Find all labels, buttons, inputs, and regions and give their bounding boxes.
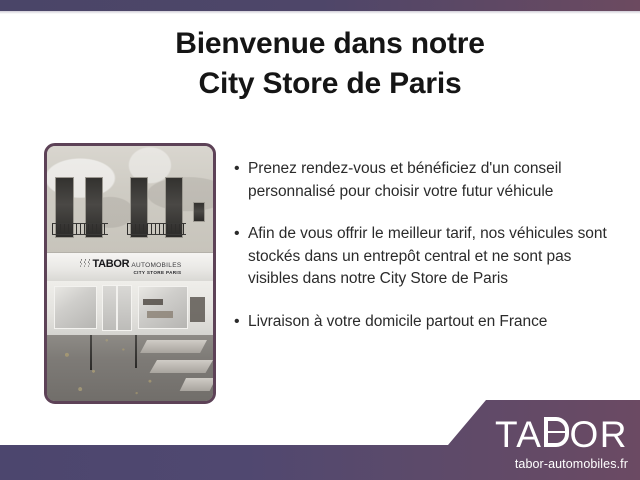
bullet-text: Livraison à votre domicile partout en Fr… — [248, 311, 547, 334]
bullet-text: Afin de vous offrir le meilleur tarif, n… — [248, 223, 626, 291]
logo-url: tabor-automobiles.fr — [495, 458, 628, 471]
sign-text-group: AUTOMOBILES CITY STORE PARIS — [131, 263, 181, 276]
curb-stone — [149, 360, 213, 373]
balcony-railing — [127, 223, 187, 235]
sign-location: CITY STORE PARIS — [131, 271, 181, 276]
tabor-wordmark: TA OR — [495, 417, 628, 453]
list-item: • Prenez rendez-vous et bénéficiez d'un … — [234, 158, 626, 203]
tabor-mark-icon — [79, 259, 91, 267]
bullet-marker: • — [234, 311, 248, 333]
logo-b-glyph — [544, 417, 569, 447]
shop-window-right — [138, 286, 188, 329]
list-item: • Afin de vous offrir le meilleur tarif,… — [234, 223, 626, 291]
bullet-marker: • — [234, 223, 248, 245]
title-line-2: City Store de Paris — [120, 64, 540, 104]
interior-counter — [147, 311, 174, 318]
tabor-logo: TA OR tabor-automobiles.fr — [495, 417, 628, 470]
curb-stone — [140, 340, 207, 353]
facade-window-small — [193, 202, 205, 222]
bullet-marker: • — [234, 158, 248, 180]
logo-text-part-1: TA — [495, 417, 543, 453]
bullet-text: Prenez rendez-vous et bénéficiez d'un co… — [248, 158, 626, 203]
interior-display — [143, 299, 163, 304]
curb-stone — [180, 378, 213, 391]
top-accent-bar — [0, 0, 640, 11]
street-bollard — [135, 335, 137, 368]
interior-panel — [190, 297, 205, 322]
footer-bar: TA OR tabor-automobiles.fr — [0, 400, 640, 480]
store-sign-inner: TABOR AUTOMOBILES CITY STORE PARIS — [79, 258, 182, 276]
top-accent-bar-shadow — [0, 11, 640, 14]
shop-door — [102, 285, 132, 331]
shop-window-left — [54, 286, 97, 329]
logo-text-part-2: OR — [570, 417, 629, 453]
photo-content: TABOR AUTOMOBILES CITY STORE PARIS — [47, 146, 213, 401]
shopfront — [47, 281, 213, 336]
sign-subtitle: AUTOMOBILES — [131, 263, 181, 270]
store-sign: TABOR AUTOMOBILES CITY STORE PARIS — [47, 252, 213, 283]
title-line-1: Bienvenue dans notre — [120, 24, 540, 64]
balcony-railing — [52, 223, 108, 235]
list-item: • Livraison à votre domicile partout en … — [234, 311, 626, 334]
sign-brand: TABOR — [93, 258, 130, 270]
storefront-photo: TABOR AUTOMOBILES CITY STORE PARIS — [44, 143, 216, 404]
slide: Bienvenue dans notre City Store de Paris… — [0, 0, 640, 480]
page-title: Bienvenue dans notre City Store de Paris — [120, 24, 540, 104]
bullet-list: • Prenez rendez-vous et bénéficiez d'un … — [234, 158, 626, 353]
street-bollard — [90, 335, 92, 371]
